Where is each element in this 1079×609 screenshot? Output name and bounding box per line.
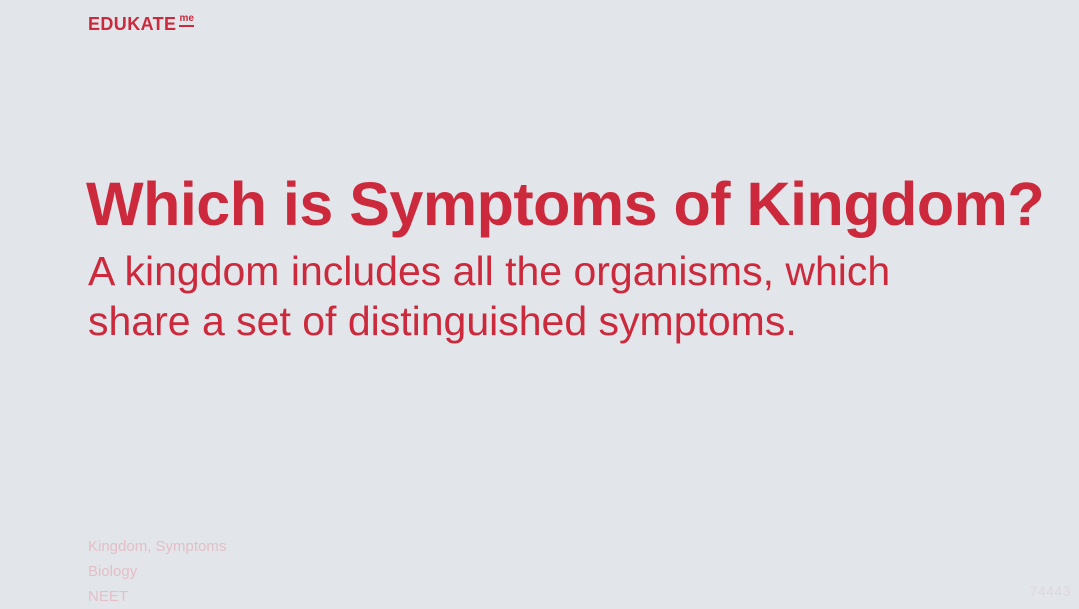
tag-exam: NEET — [88, 584, 226, 609]
slide-body: A kingdom includes all the organisms, wh… — [88, 246, 968, 346]
tag-subject: Biology — [88, 559, 226, 584]
slide-canvas: EDUKATE me Which is Symptoms of Kingdom?… — [0, 0, 1079, 607]
slide-watermark: 74443 — [1030, 583, 1071, 599]
logo-superscript: me — [179, 14, 193, 27]
slide-title: Which is Symptoms of Kingdom? — [86, 172, 1026, 236]
edukate-logo[interactable]: EDUKATE me — [88, 15, 194, 33]
logo-wordmark: EDUKATE — [88, 15, 176, 33]
body-line: share a set of distinguished symptoms. — [88, 296, 968, 346]
body-line: A kingdom includes all the organisms, wh… — [88, 246, 968, 296]
tag-keywords: Kingdom, Symptoms — [88, 534, 226, 559]
slide-tags: Kingdom, Symptoms Biology NEET — [88, 534, 226, 609]
